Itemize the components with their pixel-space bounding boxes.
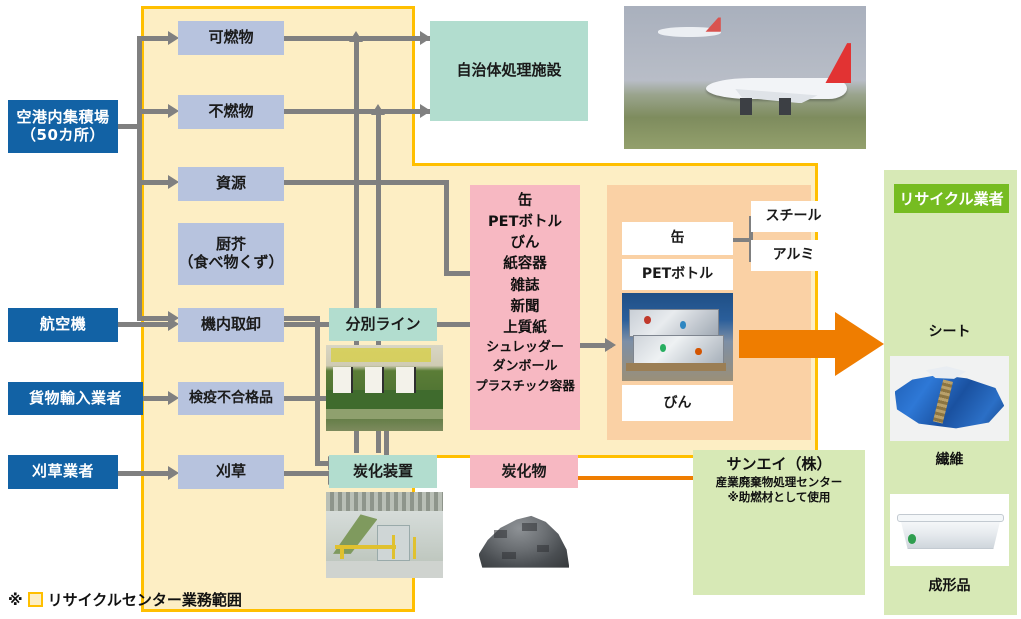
molded-product-tray-photo (890, 494, 1009, 566)
carbonized-material-photo-chunk-4 (502, 552, 516, 559)
category-incombustible[interactable]: 不燃物 (178, 95, 284, 129)
process-carbonizer-label: 炭化装置 (353, 463, 413, 481)
recycle-flow-arrow-svg (739, 312, 884, 376)
carbonized-material-photo (470, 492, 578, 578)
diagram-canvas: 空港内集積場 （50カ所） 航空機 貨物輸入業者 刈草業者 可燃物 不燃物 資源… (0, 0, 1021, 619)
recycle-flow-arrow (739, 312, 884, 376)
arrowhead-list-outputs (605, 338, 616, 352)
resource-item-9: プラスチック容器 (470, 377, 580, 395)
pet-bottle-bales-photo-bale-bottom (633, 335, 724, 363)
airplane-photo-gear-front (740, 98, 752, 115)
pet-bottle-bales-photo-speck-1 (644, 316, 651, 324)
material-carbonized[interactable]: 炭化物 (470, 455, 578, 488)
resource-item-6: 上質紙 (470, 318, 580, 339)
recycler-product-sheet-label: シート (890, 321, 1009, 341)
scope-edge-upper (412, 6, 415, 166)
category-cut-grass-label: 刈草 (216, 463, 246, 481)
source-airport-depot-line2: （50カ所） (21, 126, 105, 144)
recycler-product-sheet-text: シート (929, 324, 971, 340)
category-inflight-unload[interactable]: 機内取卸 (178, 308, 284, 342)
output-can[interactable]: 缶 (622, 222, 733, 255)
sanei-name: サンエイ（株） (693, 455, 865, 475)
carbonized-material-photo-chunk-1 (494, 530, 507, 539)
pet-bottle-bales-photo-bale-top (629, 309, 720, 337)
output-steel-label: スチール (766, 208, 822, 225)
output-bottle[interactable]: びん (622, 385, 733, 421)
connector-to-combustible (137, 36, 171, 41)
carbonization-equipment-photo-roof (326, 492, 443, 511)
carbonization-equipment-photo-floor (326, 561, 443, 578)
material-carbonized-label: 炭化物 (501, 463, 546, 481)
footnote-color-swatch (28, 592, 43, 607)
connector-resource-h1 (284, 180, 449, 185)
connector-to-foodwaste (137, 316, 171, 321)
category-resource-label: 資源 (216, 175, 246, 193)
arrowhead-riser-combustible (349, 31, 363, 42)
source-aircraft[interactable]: 航空機 (8, 308, 118, 342)
category-cut-grass[interactable]: 刈草 (178, 455, 284, 489)
pet-bottle-bales-photo-pallet (626, 363, 726, 372)
footnote-text: リサイクルセンター業務範囲 (48, 589, 242, 610)
category-combustible-label: 可燃物 (208, 29, 253, 47)
carbonization-equipment-photo (326, 492, 443, 578)
connector-cargo (143, 396, 171, 401)
output-aluminum-label: アルミ (773, 247, 815, 264)
resource-item-0: 缶 (470, 191, 580, 212)
output-steel[interactable]: スチール (751, 201, 836, 232)
carbonization-equipment-photo-rail-4 (413, 537, 417, 559)
resource-item-4: 雑誌 (470, 276, 580, 297)
output-pet-label: PETボトル (642, 266, 713, 283)
sorting-conveyor-photo-chute-3 (396, 367, 416, 393)
sanei-subtitle: 産業廃棄物処理センター (693, 475, 865, 491)
carbonization-equipment-photo-rail-2 (340, 545, 344, 559)
carbonization-equipment-photo-rail-3 (392, 535, 396, 559)
sorting-conveyor-photo-chute-2 (365, 367, 385, 393)
process-municipal-facility-label: 自治体処理施設 (456, 62, 561, 80)
connector-source1-trunk (137, 36, 142, 320)
sorting-conveyor-photo-chute-1 (333, 367, 353, 393)
connector-inflight-h (284, 322, 334, 327)
molded-product-tray-photo-logo (908, 534, 916, 543)
process-municipal-facility[interactable]: 自治体処理施設 (430, 21, 588, 121)
sorting-conveyor-photo-frame (326, 409, 443, 419)
footnote: ※ リサイクルセンター業務範囲 (8, 589, 242, 610)
sorting-conveyor-photo-banner (331, 348, 432, 362)
category-food-waste-line1: 厨芥 (216, 235, 246, 253)
category-inflight-unload-label: 機内取卸 (201, 316, 261, 334)
category-quarantine-reject[interactable]: 検疫不合格品 (178, 382, 284, 415)
recycler-product-fiber-label: 繊維 (890, 449, 1009, 469)
resource-item-5: 新聞 (470, 297, 580, 318)
carbonization-equipment-photo-rail-1 (335, 545, 396, 548)
airplane-photo-gear-rear (779, 98, 791, 115)
source-aircraft-label: 航空機 (40, 316, 87, 334)
source-airport-depot[interactable]: 空港内集積場 （50カ所） (8, 100, 118, 153)
source-cargo-importer[interactable]: 貨物輸入業者 (8, 382, 143, 415)
category-food-waste[interactable]: 厨芥 （食べ物くず） (178, 223, 284, 285)
carbonized-material-photo-chunk-3 (537, 545, 549, 552)
category-combustible[interactable]: 可燃物 (178, 21, 284, 55)
source-grass-contractor[interactable]: 刈草業者 (8, 455, 118, 489)
output-aluminum[interactable]: アルミ (751, 240, 836, 271)
output-bottle-label: びん (664, 395, 692, 412)
recycled-fiber-jacket-photo (890, 356, 1009, 441)
connector-to-resource (137, 180, 171, 185)
process-carbonizer[interactable]: 炭化装置 (329, 455, 437, 488)
resource-item-2: びん (470, 233, 580, 254)
output-pet[interactable]: PETボトル (622, 259, 733, 290)
category-quarantine-reject-label: 検疫不合格品 (189, 390, 273, 407)
source-airport-depot-line1: 空港内集積場 (16, 108, 109, 126)
process-sorting-line-label: 分別ライン (345, 316, 420, 334)
pet-bottle-bales-photo (622, 293, 733, 381)
resource-item-3: 紙容器 (470, 254, 580, 275)
recycler-panel-label: リサイクル業者 (894, 184, 1009, 213)
resource-item-8: ダンボール (470, 358, 580, 377)
resource-list-box[interactable]: 缶 PETボトル びん 紙容器 雑誌 新聞 上質紙 シュレッダー ダンボール プ… (470, 185, 580, 430)
recycler-product-molded-label: 成形品 (890, 575, 1009, 595)
recycler-panel-label-text: リサイクル業者 (899, 188, 1003, 209)
footnote-mark: ※ (8, 591, 23, 609)
recycler-product-molded-text: 成形品 (929, 578, 971, 594)
resource-item-1: PETボトル (470, 212, 580, 233)
connector-grass (118, 471, 171, 476)
airplane-photo (624, 6, 866, 149)
arrowhead-riser-incombustible (371, 104, 385, 115)
connector-grasscut-h (284, 471, 332, 476)
category-food-waste-line2: （食べ物くず） (178, 253, 283, 271)
connector-carbonized-to-sanei (577, 476, 702, 480)
connector-to-incombustible (137, 109, 171, 114)
connector-foodwaste-v (315, 316, 320, 466)
connector-resource-v (444, 180, 449, 276)
output-can-label: 缶 (671, 230, 685, 247)
connector-aircraft (118, 322, 171, 327)
molded-product-tray-photo-rim (897, 514, 1004, 522)
category-resource[interactable]: 資源 (178, 167, 284, 201)
sanei-box[interactable]: サンエイ（株） 産業廃棄物処理センター ※助燃材として使用 (693, 450, 865, 595)
sorting-conveyor-photo (326, 345, 443, 431)
recycler-product-fiber-text: 繊維 (936, 452, 964, 468)
sanei-note: ※助燃材として使用 (693, 490, 865, 506)
carbonized-material-photo-heap (479, 507, 570, 567)
carbonized-material-photo-chunk-2 (522, 523, 537, 531)
source-grass-contractor-label: 刈草業者 (32, 463, 94, 481)
resource-item-7: シュレッダー (470, 339, 580, 358)
process-sorting-line[interactable]: 分別ライン (329, 308, 437, 341)
category-incombustible-label: 不燃物 (208, 103, 253, 121)
source-cargo-importer-label: 貨物輸入業者 (29, 390, 122, 408)
